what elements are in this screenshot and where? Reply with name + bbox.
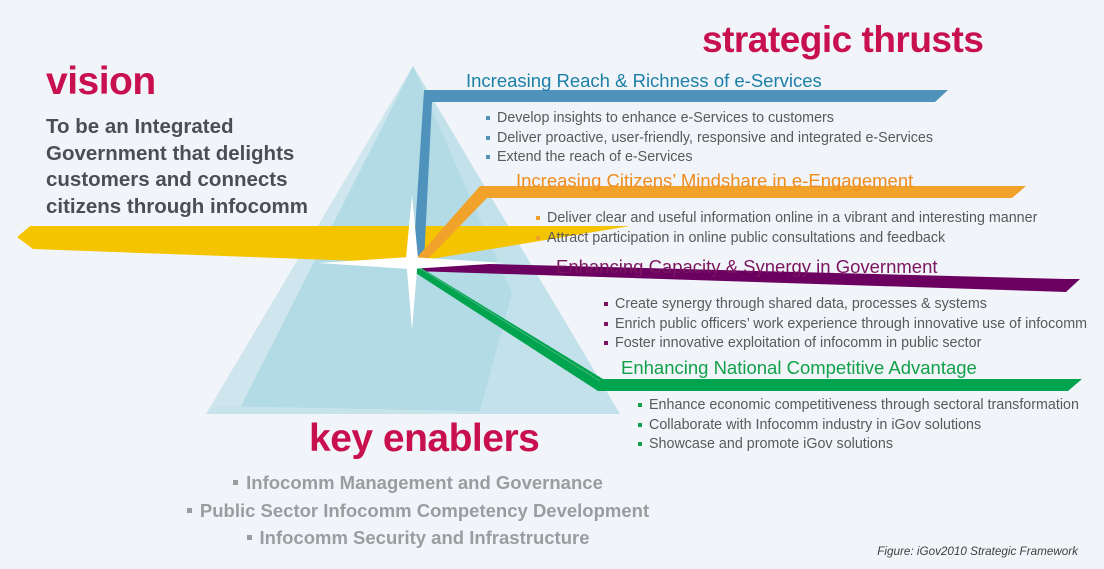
thrust-bullet-list: Develop insights to enhance e-Services t… — [486, 109, 933, 168]
thrust-bullet-list: Create synergy through shared data, proc… — [604, 295, 1087, 354]
thrust-bullet: Extend the reach of e-Services — [486, 148, 933, 168]
key-enabler-row: Infocomm Management and Governance — [0, 470, 836, 498]
thrust-bullet: Enrich public officers’ work experience … — [604, 315, 1087, 335]
thrust-bullet-list: Deliver clear and useful information onl… — [536, 209, 1037, 248]
thrust-block-reach-richness: Increasing Reach & Richness of e-Service… — [466, 70, 933, 168]
key-enabler-item: Infocomm Security and Infrastructure — [247, 525, 590, 551]
thrust-heading: Increasing Reach & Richness of e-Service… — [466, 70, 933, 92]
thrust-bullet: Foster innovative exploitation of infoco… — [604, 334, 1087, 354]
thrust-bullet-text: Create synergy through shared data, proc… — [615, 296, 987, 312]
thrust-block-competitive-advantage: Enhancing National Competitive Advantage… — [621, 357, 1079, 455]
vision-title: vision — [46, 60, 156, 104]
thrust-bullet: Deliver proactive, user-friendly, respon… — [486, 129, 933, 149]
thrust-bullet-text: Extend the reach of e-Services — [497, 149, 693, 165]
thrust-block-capacity-synergy: Enhancing Capacity & Synergy in Governme… — [556, 256, 1087, 354]
key-enablers-title: key enablers — [309, 417, 539, 461]
key-enabler-row: Infocomm Security and Infrastructure — [0, 525, 836, 553]
thrust-bullet: Enhance economic competitiveness through… — [638, 396, 1079, 416]
key-enablers-list: Infocomm Management and Governance Publi… — [0, 470, 836, 553]
thrust-block-citizens-mindshare: Increasing Citizens’ Mindshare in e-Enga… — [516, 170, 1037, 248]
thrust-bullet: Showcase and promote iGov solutions — [638, 435, 1079, 455]
thrust-bullet: Deliver clear and useful information onl… — [536, 209, 1037, 229]
thrust-bullet: Create synergy through shared data, proc… — [604, 295, 1087, 315]
thrust-bullet-text: Deliver proactive, user-friendly, respon… — [497, 130, 933, 146]
thrust-heading: Enhancing National Competitive Advantage — [621, 357, 1079, 379]
thrust-bullet-text: Showcase and promote iGov solutions — [649, 436, 893, 452]
thrust-band-reach-richness-chamfer — [935, 90, 948, 102]
thrust-bullet-text: Enrich public officers’ work experience … — [615, 316, 1087, 332]
vision-statement: To be an Integrated Government that deli… — [46, 114, 346, 220]
thrust-heading: Increasing Citizens’ Mindshare in e-Enga… — [516, 170, 1037, 192]
thrust-bullet-text: Attract participation in online public c… — [547, 230, 945, 246]
key-enabler-row: Public Sector Infocomm Competency Develo… — [0, 498, 836, 526]
infographic-canvas: vision To be an Integrated Government th… — [0, 0, 1104, 569]
convergence-star — [318, 195, 505, 330]
thrust-bullet-text: Foster innovative exploitation of infoco… — [615, 335, 981, 351]
pyramid-base-band — [206, 406, 620, 414]
thrust-bullet-text: Deliver clear and useful information onl… — [547, 210, 1037, 226]
thrust-bullet-text: Enhance economic competitiveness through… — [649, 397, 1079, 413]
key-enabler-item: Infocomm Management and Governance — [233, 470, 603, 496]
figure-caption: Figure: iGov2010 Strategic Framework — [877, 545, 1078, 558]
strategic-thrusts-title: strategic thrusts — [702, 19, 983, 61]
thrust-bullet-text: Develop insights to enhance e-Services t… — [497, 110, 834, 126]
thrust-bullet-list: Enhance economic competitiveness through… — [638, 396, 1079, 455]
thrust-bullet: Attract participation in online public c… — [536, 229, 1037, 249]
vision-band-chamfer — [17, 226, 30, 237]
key-enabler-item: Public Sector Infocomm Competency Develo… — [187, 498, 649, 524]
thrust-bullet: Collaborate with Infocomm industry in iG… — [638, 416, 1079, 436]
thrust-bullet: Develop insights to enhance e-Services t… — [486, 109, 933, 129]
thrust-bullet-text: Collaborate with Infocomm industry in iG… — [649, 417, 981, 433]
thrust-heading: Enhancing Capacity & Synergy in Governme… — [556, 256, 1087, 278]
